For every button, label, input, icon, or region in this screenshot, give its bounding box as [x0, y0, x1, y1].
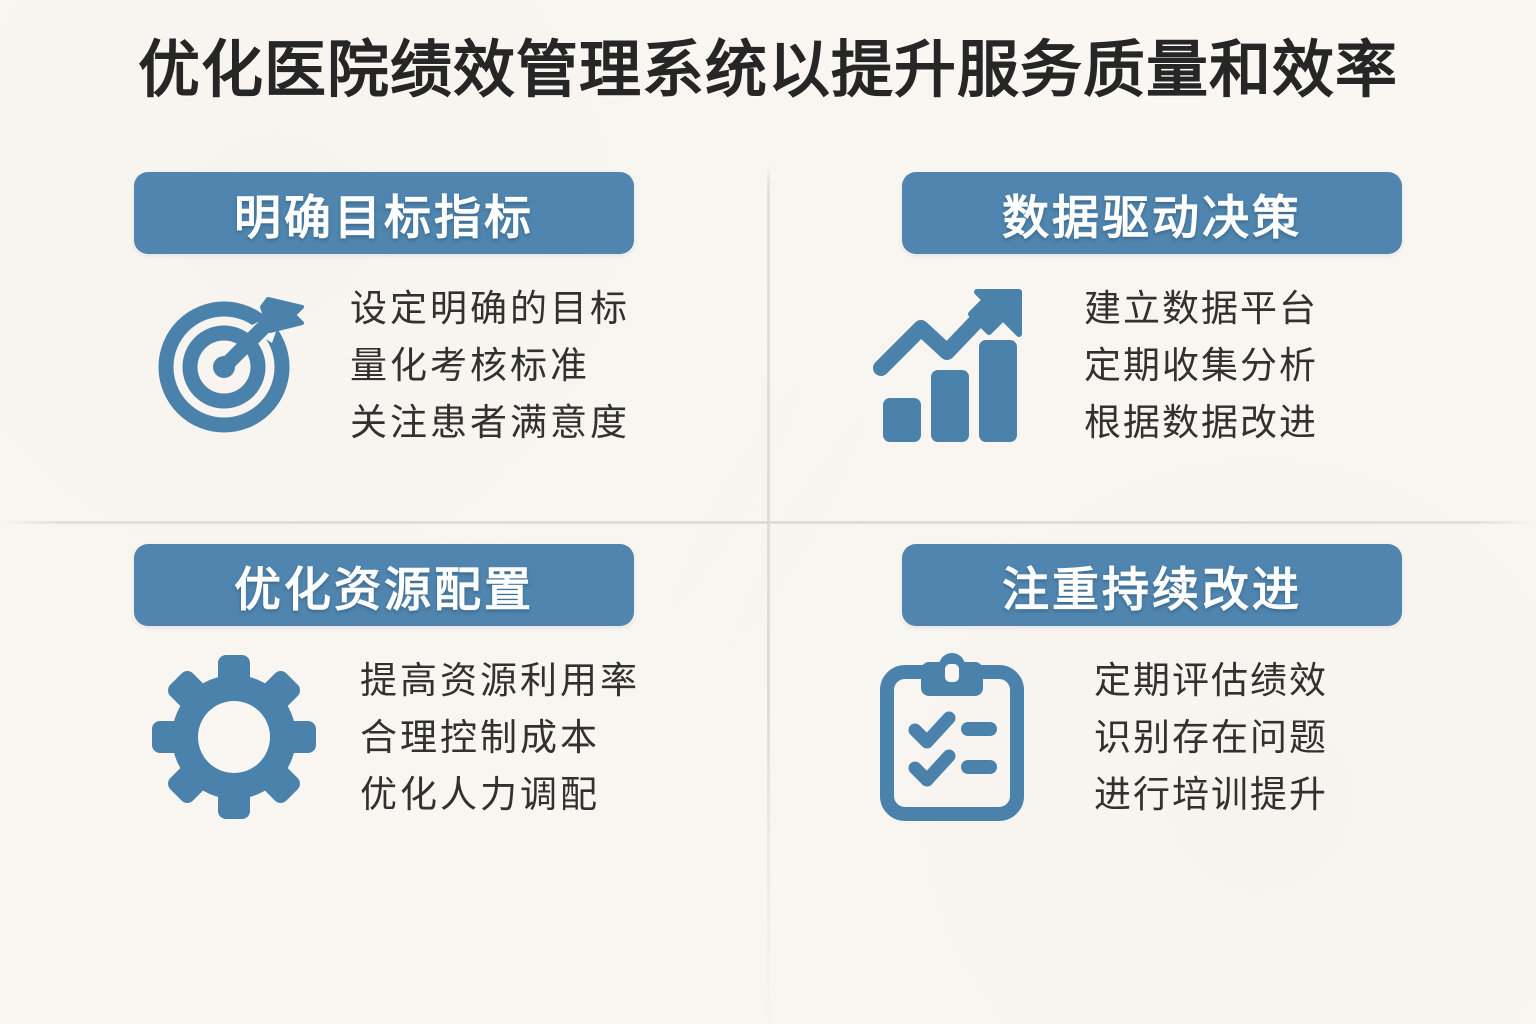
- list-item: 定期评估绩效: [1094, 662, 1328, 699]
- title-bar: 优化医院绩效管理系统以提升服务质量和效率: [0, 28, 1536, 114]
- card-badge-2: 数据驱动决策: [902, 172, 1402, 254]
- clipboard-checklist-icon: [868, 652, 1036, 822]
- card-badge-1: 明确目标指标: [134, 172, 634, 254]
- infographic-page: 优化医院绩效管理系统以提升服务质量和效率 明确目标指标: [0, 0, 1536, 1024]
- card-body-4: 定期评估绩效 识别存在问题 进行培训提升: [768, 652, 1536, 822]
- card-body-3: 提高资源利用率 合理控制成本 优化人力调配: [0, 652, 768, 822]
- list-item: 识别存在问题: [1094, 719, 1328, 756]
- card-badge-label-4: 注重持续改进: [1002, 551, 1302, 620]
- quadrant-grid: 明确目标指标: [0, 150, 1536, 940]
- list-item: 合理控制成本: [360, 719, 640, 756]
- card-bullets-2: 建立数据平台 定期收集分析 根据数据改进: [1084, 290, 1318, 441]
- card-badge-label-1: 明确目标指标: [234, 179, 534, 248]
- growth-chart-icon: [864, 280, 1032, 450]
- card-badge-label-3: 优化资源配置: [234, 551, 534, 620]
- card-bullets-1: 设定明确的目标 量化考核标准 关注患者满意度: [350, 290, 630, 441]
- card-bullets-4: 定期评估绩效 识别存在问题 进行培训提升: [1094, 662, 1328, 813]
- list-item: 定期收集分析: [1084, 347, 1318, 384]
- gear-icon: [150, 652, 318, 822]
- card-body-2: 建立数据平台 定期收集分析 根据数据改进: [768, 280, 1536, 450]
- list-item: 提高资源利用率: [360, 662, 640, 699]
- card-badge-label-2: 数据驱动决策: [1002, 179, 1302, 248]
- card-resource-optimization: 优化资源配置: [0, 522, 768, 894]
- card-body-1: 设定明确的目标 量化考核标准 关注患者满意度: [0, 280, 768, 450]
- card-bullets-3: 提高资源利用率 合理控制成本 优化人力调配: [360, 662, 640, 813]
- list-item: 关注患者满意度: [350, 404, 630, 441]
- card-clear-goal-metrics: 明确目标指标: [0, 150, 768, 522]
- card-badge-4: 注重持续改进: [902, 544, 1402, 626]
- list-item: 进行培训提升: [1094, 776, 1328, 813]
- list-item: 根据数据改进: [1084, 404, 1318, 441]
- list-item: 量化考核标准: [350, 347, 630, 384]
- list-item: 优化人力调配: [360, 776, 640, 813]
- card-data-driven-decisions: 数据驱动决策 建立数据平台: [768, 150, 1536, 522]
- list-item: 建立数据平台: [1084, 290, 1318, 327]
- card-continuous-improvement: 注重持续改进: [768, 522, 1536, 894]
- list-item: 设定明确的目标: [350, 290, 630, 327]
- target-icon: [148, 280, 316, 450]
- page-title: 优化医院绩效管理系统以提升服务质量和效率: [138, 38, 1398, 103]
- card-badge-3: 优化资源配置: [134, 544, 634, 626]
